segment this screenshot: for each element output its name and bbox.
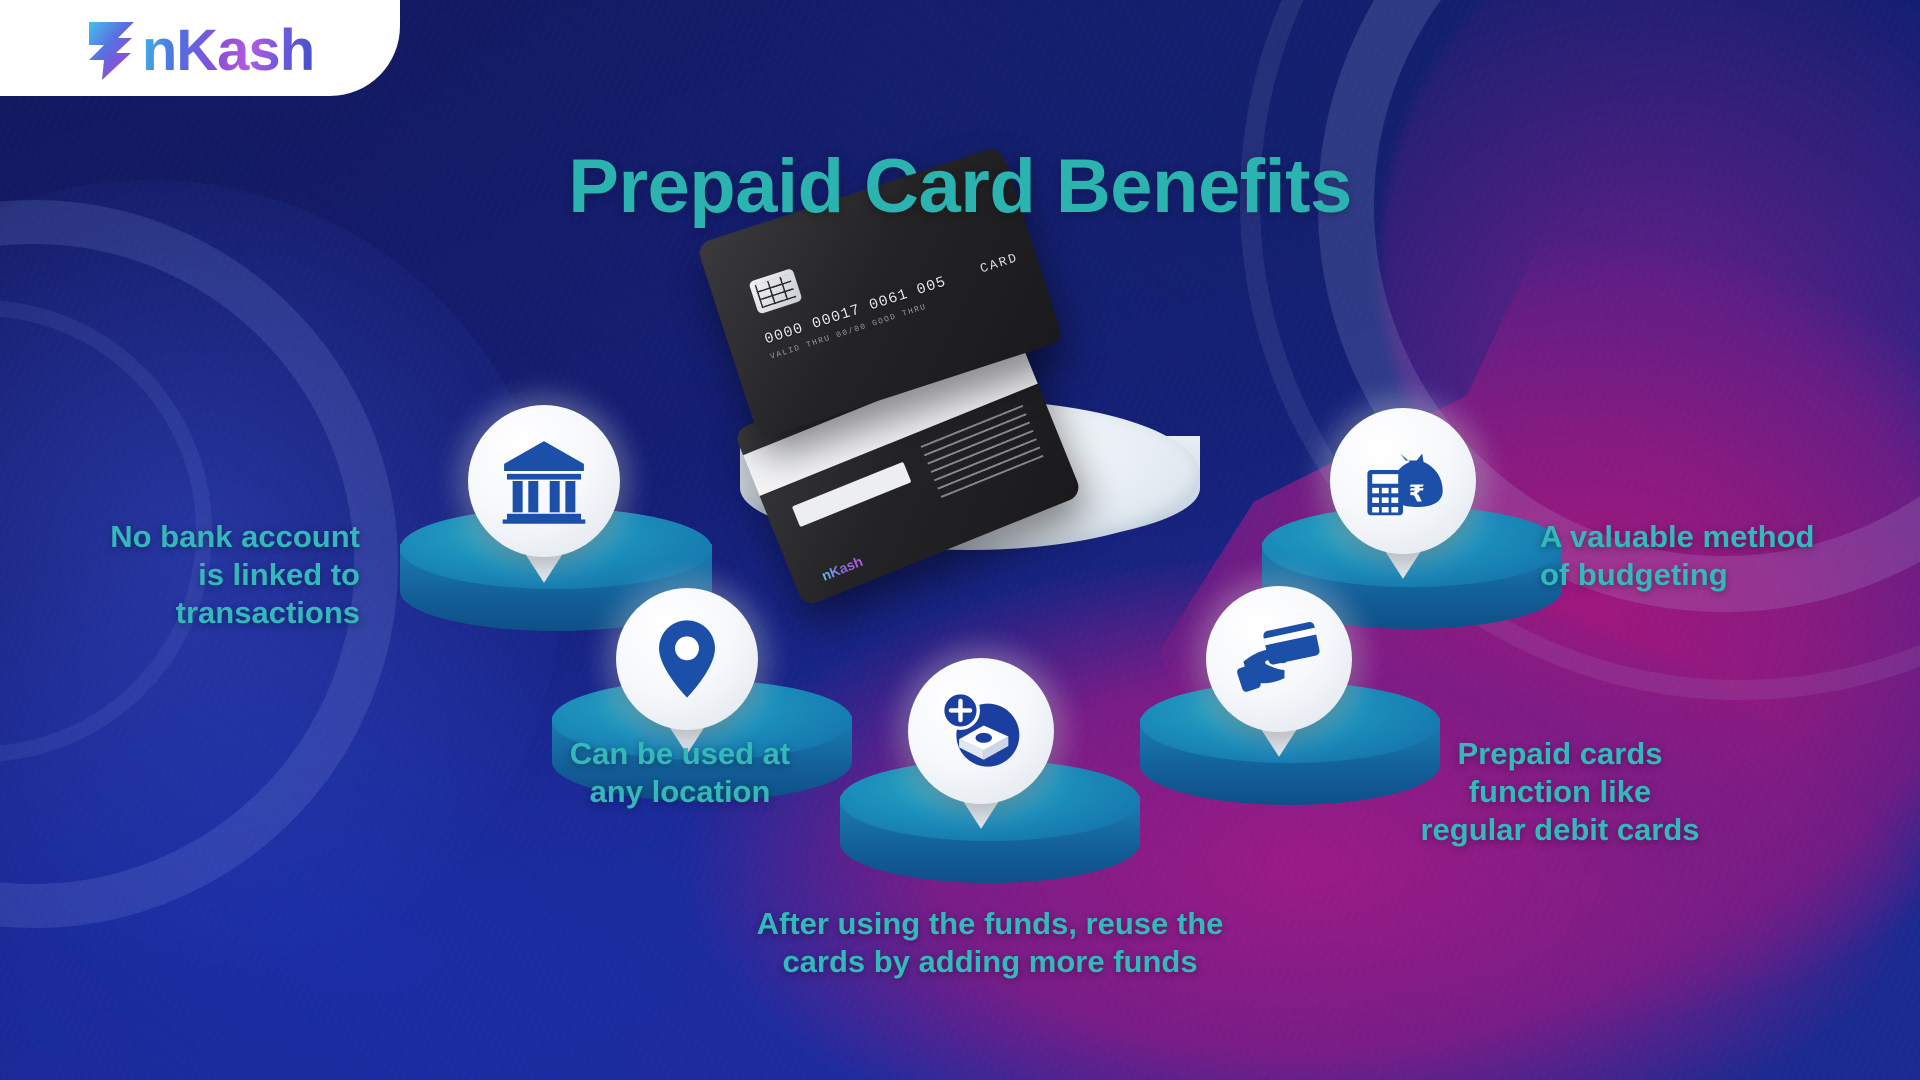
caption-budgeting: A valuable method of budgeting	[1540, 518, 1910, 594]
calculator-money-bag-icon: ₹	[1359, 437, 1447, 525]
caption-line: Prepaid cards	[1350, 735, 1770, 773]
brand-name: nKash	[142, 22, 314, 80]
caption-line: A valuable method	[1540, 518, 1910, 556]
pin-circle	[908, 658, 1054, 804]
hand-holding-card-icon	[1235, 615, 1323, 703]
card-chip-icon	[748, 268, 802, 315]
rupee-r-logo-icon	[82, 20, 138, 82]
brand-logo: nKash	[82, 20, 314, 82]
caption-line: function like	[1350, 773, 1770, 811]
card-back-logo: nKash	[819, 553, 865, 584]
caption-line: of budgeting	[1540, 556, 1910, 594]
caption-line: transactions	[30, 594, 360, 632]
caption-any-location: Can be used at any location	[480, 735, 880, 811]
pin-budgeting[interactable]: ₹	[1330, 408, 1476, 554]
pin-reuse-funds[interactable]	[908, 658, 1054, 804]
caption-line: After using the funds, reuse the	[630, 905, 1350, 943]
hero-card-podium: nKash 0000 00017 0061 005 VALID THRU 00/…	[714, 200, 1214, 600]
add-money-icon	[937, 687, 1025, 775]
caption-line: cards by adding more funds	[630, 943, 1350, 981]
pin-circle: ₹	[1330, 408, 1476, 554]
brand-logo-badge: nKash	[0, 0, 400, 96]
caption-line: any location	[480, 773, 880, 811]
caption-no-bank-account: No bank account is linked to transaction…	[30, 518, 360, 631]
bank-building-icon	[498, 435, 589, 526]
caption-line: No bank account	[30, 518, 360, 556]
caption-like-debit-cards: Prepaid cards function like regular debi…	[1350, 735, 1770, 848]
pin-no-bank-account[interactable]	[468, 405, 620, 557]
page-title: Prepaid Card Benefits	[0, 143, 1920, 230]
location-pin-icon	[644, 616, 729, 701]
pin-any-location[interactable]	[616, 588, 758, 730]
caption-line: is linked to	[30, 556, 360, 594]
infographic-canvas: nKash Prepaid Card Benefits nKash 0000 0…	[0, 0, 1920, 1080]
caption-line: Can be used at	[480, 735, 880, 773]
card-number: 0000 00017 0061 005	[763, 255, 1006, 348]
pin-circle	[468, 405, 620, 557]
pin-like-debit-cards[interactable]	[1206, 586, 1352, 732]
caption-reuse-funds: After using the funds, reuse the cards b…	[630, 905, 1350, 981]
pin-circle	[616, 588, 758, 730]
caption-line: regular debit cards	[1350, 811, 1770, 849]
pin-circle	[1206, 586, 1352, 732]
svg-text:₹: ₹	[1409, 481, 1425, 508]
